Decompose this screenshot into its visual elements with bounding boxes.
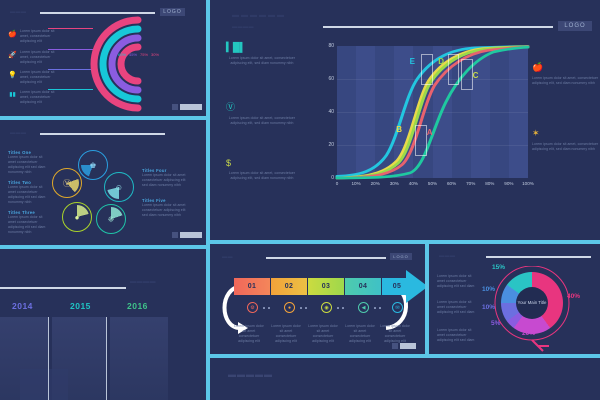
curve-label-c: C bbox=[473, 71, 479, 80]
apple-icon: 🍎 bbox=[532, 62, 600, 73]
brain-icon: Ⓥ bbox=[226, 100, 298, 113]
process-caption-4: Lorem ipsum dolor sit amet consectetuer … bbox=[378, 324, 412, 344]
plot-area: 80 60 40 20 0 0 10% 20% 30% 40% 50% 60% … bbox=[337, 46, 528, 178]
pager-square[interactable] bbox=[172, 104, 178, 110]
target-icon[interactable]: ◉ bbox=[321, 302, 332, 313]
chart-side-text: Lorem ipsum dolor sit amet, consectetuer… bbox=[226, 171, 298, 181]
bulb-icon[interactable]: ● bbox=[284, 302, 295, 313]
year-label-2014: 2014 bbox=[12, 301, 33, 311]
x-tick: 40% bbox=[409, 181, 418, 186]
process-arrow-head bbox=[406, 270, 425, 303]
chart-side-block-1[interactable]: Ⓥ Lorem ipsum dolor sit amet, consectetu… bbox=[226, 100, 298, 126]
pager-bar[interactable] bbox=[180, 104, 202, 110]
x-tick: 50% bbox=[428, 181, 437, 186]
ring-row-text: Lorem ipsum dolor sit amet, consectetuer… bbox=[20, 29, 60, 44]
connector-dot bbox=[342, 307, 344, 309]
donut-pct-20: 20% bbox=[522, 330, 535, 337]
connector-dot bbox=[300, 307, 302, 309]
year-column-2016 bbox=[110, 317, 168, 400]
x-tick: 90% bbox=[504, 181, 513, 186]
trophy-icon: ♚ bbox=[79, 151, 107, 179]
ring-row-text: Lorem ipsum dolor sit amet, consectetuer… bbox=[20, 70, 60, 85]
connector-dot bbox=[268, 307, 270, 309]
chart-side-block-0[interactable]: ▍█▌ Lorem ipsum dolor sit amet, consecte… bbox=[226, 42, 298, 66]
speaker-icon[interactable]: ◀ bbox=[358, 302, 369, 313]
slide3-header-rule bbox=[40, 133, 165, 135]
circle-node-0[interactable]: ♚ bbox=[78, 150, 108, 180]
curve-label-d: D bbox=[438, 57, 444, 66]
s-curve-chart: 80 60 40 20 0 0 10% 20% 30% 40% 50% 60% … bbox=[315, 42, 530, 194]
ring-row-3[interactable]: ▮▮ Lorem ipsum dolor sit amet, consectet… bbox=[8, 90, 60, 105]
chart-side-text: Lorem ipsum dolor sit amet, consectetuer… bbox=[226, 56, 298, 66]
column-divider bbox=[48, 317, 49, 400]
share-icon: ❈ bbox=[97, 205, 125, 233]
curve-label-a: A bbox=[427, 128, 433, 137]
callout-box-a bbox=[415, 125, 427, 156]
person-icon: ☺ bbox=[105, 173, 133, 201]
process-caption-3: Lorem ipsum dolor sit amet consectetuer … bbox=[343, 324, 377, 344]
curve-label-e: E bbox=[410, 57, 415, 66]
ring-legend-item: 60% bbox=[118, 52, 126, 57]
ring-row-text: Lorem ipsum dolor sit amet, consectetuer… bbox=[20, 90, 60, 105]
circle-item-text: Lorem ipsum dolor sit amet consectetuer … bbox=[8, 215, 50, 235]
slide4-header-rule bbox=[0, 287, 126, 289]
bulb-icon: 💡 bbox=[8, 70, 17, 79]
ring-row-text: Lorem ipsum dolor sit amet, consectetuer… bbox=[20, 50, 60, 65]
donut-text-1: Lorem ipsum dolor sit amet consectetuer … bbox=[437, 300, 477, 315]
y-tick: 40 bbox=[328, 109, 334, 115]
chart-side-text: Lorem ipsum dolor sit amet, consectetuer… bbox=[532, 76, 600, 86]
slide6-header-rule bbox=[486, 256, 591, 258]
year-label-2016: 2016 bbox=[127, 301, 148, 311]
ring-legend: 60% 45% 75% 30% bbox=[118, 52, 159, 57]
x-tick: 0 bbox=[336, 181, 339, 186]
donut-pct-40: 40% bbox=[567, 293, 580, 300]
presentation-template-collage: ▬▬▬ LOGO 🍎 Lorem ipsum dolor sit amet, c… bbox=[0, 0, 600, 400]
logo-badge: LOGO bbox=[558, 21, 592, 31]
slide2-header-rule bbox=[323, 26, 553, 28]
ring-legend-item: 75% bbox=[140, 52, 148, 57]
slide5-pager[interactable] bbox=[392, 343, 416, 349]
process-caption-2: Lorem ipsum dolor sit amet consectetuer … bbox=[306, 324, 340, 344]
year-column-shadow bbox=[20, 369, 68, 400]
circle-right-item-0[interactable]: Titles Four Lorem ipsum dolor sit amet c… bbox=[142, 168, 188, 188]
ring-legend-item: 30% bbox=[151, 52, 159, 57]
slide-five-circles[interactable]: ▬▬▬ Titles One Lorem ipsum dolor sit ame… bbox=[0, 120, 206, 245]
slide2-subtitle-ghost: ▬▬▬▬ bbox=[232, 24, 254, 30]
x-tick: 100% bbox=[522, 181, 534, 186]
slide7-title-ghost: ▬▬▬▬▬ bbox=[228, 370, 273, 379]
process-caption-1: Lorem ipsum dolor sit amet consectetuer … bbox=[269, 324, 303, 344]
circle-left-item-1[interactable]: Titles Two Lorem ipsum dolor sit amet co… bbox=[8, 180, 50, 205]
circle-node-4[interactable]: ❈ bbox=[96, 204, 126, 234]
x-tick: 70% bbox=[466, 181, 475, 186]
donut-pct-5: 5% bbox=[491, 320, 500, 327]
circle-left-item-2[interactable]: Titles Three Lorem ipsum dolor sit amet … bbox=[8, 210, 50, 235]
donut-text-0: Lorem ipsum dolor sit amet consectetuer … bbox=[437, 274, 477, 289]
callout-box-e bbox=[421, 54, 433, 85]
logo-badge: LOGO bbox=[390, 253, 412, 260]
slide3-title-ghost: ▬▬▬ bbox=[10, 130, 27, 136]
connector-dot bbox=[305, 307, 307, 309]
slide-five-step-process[interactable]: ▬▬ LOGO 01 02 03 04 05 ⚙ ● ◉ ◀ ✉ Lorem i… bbox=[210, 244, 425, 354]
x-tick: 30% bbox=[390, 181, 399, 186]
donut-pct-15: 15% bbox=[492, 264, 505, 271]
slide3-pager[interactable] bbox=[172, 232, 202, 238]
rocket-icon: 🚀 bbox=[8, 50, 17, 59]
callout-box-d bbox=[448, 54, 460, 85]
circle-right-item-1[interactable]: Titles Five Lorem ipsum dolor sit amet c… bbox=[142, 198, 188, 218]
y-tick: 0 bbox=[331, 175, 334, 181]
ring-row-0[interactable]: 🍎 Lorem ipsum dolor sit amet, consectetu… bbox=[8, 29, 60, 44]
apple-icon: 🍎 bbox=[8, 29, 17, 38]
chart-side-text: Lorem ipsum dolor sit amet, consectetuer… bbox=[532, 142, 600, 152]
slide2-title-ghost: ▬▬▬▬▬▬ bbox=[232, 12, 286, 19]
slide-year-columns[interactable]: ▬▬▬▬ 2014 2015 2016 bbox=[0, 249, 206, 400]
y-tick: 20 bbox=[328, 142, 334, 148]
circle-node-2[interactable]: ☺ bbox=[104, 172, 134, 202]
pager-square[interactable] bbox=[172, 232, 178, 238]
bar-chart-icon: ▍█▌ bbox=[226, 42, 298, 53]
slide-bottom-partial[interactable]: ▬▬▬▬▬ bbox=[210, 358, 600, 400]
donut-outer-ring bbox=[491, 266, 581, 354]
slide1-pager[interactable] bbox=[172, 104, 202, 110]
multi-ring-chart bbox=[78, 14, 198, 114]
slide6-title-ghost: ▬▬▬ bbox=[439, 253, 456, 259]
circle-node-1[interactable]: Ⓥ bbox=[52, 168, 82, 198]
slide1-title-ghost: ▬▬▬ bbox=[10, 9, 27, 15]
pager-bar[interactable] bbox=[400, 343, 416, 349]
star-icon: ✶ bbox=[532, 128, 600, 139]
mail-icon[interactable]: ✉ bbox=[392, 302, 403, 313]
curve-label-b: B bbox=[396, 125, 402, 134]
y-tick: 80 bbox=[328, 43, 334, 49]
circle-item-text: Lorem ipsum dolor sit amet consectetuer … bbox=[142, 203, 188, 218]
circle-node-3[interactable]: ● bbox=[62, 202, 92, 232]
gear-icon[interactable]: ⚙ bbox=[247, 302, 258, 313]
process-caption-0: Lorem ipsum dolor sit amet consectetuer … bbox=[232, 324, 266, 344]
slide-multi-ring[interactable]: ▬▬▬ LOGO 🍎 Lorem ipsum dolor sit amet, c… bbox=[0, 0, 206, 116]
x-tick: 80% bbox=[485, 181, 494, 186]
x-tick: 10% bbox=[351, 181, 360, 186]
process-step-02[interactable]: 02 bbox=[271, 278, 307, 295]
donut-pct-10a: 10% bbox=[482, 286, 495, 293]
slide5-title-ghost: ▬▬ bbox=[222, 254, 233, 260]
process-step-01[interactable]: 01 bbox=[234, 278, 270, 295]
circle-item-text: Lorem ipsum dolor sit amet consectetuer … bbox=[8, 155, 50, 175]
donut-pct-10b: 10% bbox=[482, 304, 495, 311]
connector-dot bbox=[337, 307, 339, 309]
dollar-icon: $ bbox=[226, 158, 298, 168]
bulb-icon: ● bbox=[63, 203, 91, 231]
slide4-title-ghost: ▬▬▬▬ bbox=[130, 279, 156, 285]
chart-side-block-4[interactable]: ✶ Lorem ipsum dolor sit amet, consectetu… bbox=[532, 128, 600, 152]
ring-row-1[interactable]: 🚀 Lorem ipsum dolor sit amet, consectetu… bbox=[8, 50, 60, 65]
y-tick: 60 bbox=[328, 76, 334, 82]
connector-dot bbox=[374, 307, 376, 309]
slide-donut-percentages[interactable]: ▬▬▬ Lorem ipsum dolor sit amet consectet… bbox=[429, 244, 600, 354]
connector-dot bbox=[263, 307, 265, 309]
brain-icon: Ⓥ bbox=[53, 169, 81, 197]
x-tick: 60% bbox=[447, 181, 456, 186]
circle-item-text: Lorem ipsum dolor sit amet consectetuer … bbox=[142, 173, 188, 188]
column-divider bbox=[106, 317, 107, 400]
x-tick: 20% bbox=[371, 181, 380, 186]
circle-item-text: Lorem ipsum dolor sit amet consectetuer … bbox=[8, 185, 50, 205]
slide5-header-rule bbox=[266, 257, 386, 259]
year-label-2015: 2015 bbox=[70, 301, 91, 311]
ring-legend-item: 45% bbox=[129, 52, 137, 57]
donut-text-2: Lorem ipsum dolor sit amet consectetuer … bbox=[437, 328, 477, 343]
pager-square[interactable] bbox=[392, 343, 398, 349]
chart-side-block-3[interactable]: 🍎 Lorem ipsum dolor sit amet, consectetu… bbox=[532, 62, 600, 86]
chart-icon: ▮▮ bbox=[8, 90, 17, 99]
ring-row-2[interactable]: 💡 Lorem ipsum dolor sit amet, consectetu… bbox=[8, 70, 60, 85]
process-step-04[interactable]: 04 bbox=[345, 278, 381, 295]
callout-box-c bbox=[461, 59, 473, 90]
chart-side-block-2[interactable]: $ Lorem ipsum dolor sit amet, consectetu… bbox=[226, 158, 298, 181]
chart-side-text: Lorem ipsum dolor sit amet, consectetuer… bbox=[226, 116, 298, 126]
circle-left-item-0[interactable]: Titles One Lorem ipsum dolor sit amet co… bbox=[8, 150, 50, 175]
process-step-03[interactable]: 03 bbox=[308, 278, 344, 295]
connector-dot bbox=[379, 307, 381, 309]
pager-bar[interactable] bbox=[180, 232, 202, 238]
slide-s-curve-chart[interactable]: ▬▬▬▬▬▬ ▬▬▬▬ LOGO ▍█▌ Lorem ipsum dolor s… bbox=[210, 0, 600, 240]
